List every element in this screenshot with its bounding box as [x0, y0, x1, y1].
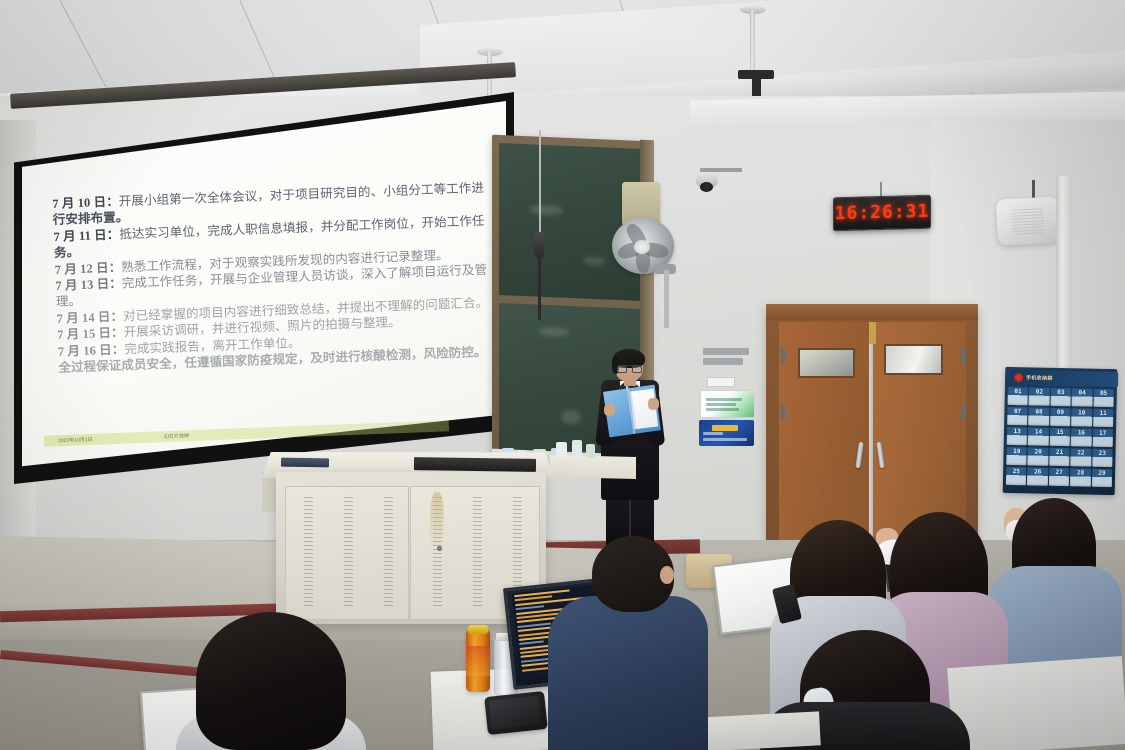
pocket-slot[interactable]: 03 [1050, 388, 1071, 406]
lectern-door-left[interactable] [285, 486, 409, 620]
lectern-bottle-3 [586, 444, 595, 458]
lectern-bottle-2 [572, 440, 582, 458]
lectern-knob[interactable] [437, 546, 442, 551]
classroom-scene: 7 月 10 日：开展小组第一次全体会议，对于项目研究目的、小组分工等工作进 行… [0, 0, 1125, 750]
pocket-slot[interactable]: 09 [1050, 408, 1071, 426]
pocket-slot[interactable]: 17 [1092, 429, 1113, 447]
lectern-monitor[interactable] [281, 458, 329, 468]
pocket-slot[interactable]: 28 [1070, 468, 1091, 486]
pocket-slot[interactable]: 02 [1029, 387, 1050, 405]
door-center-gap [869, 322, 873, 560]
taskbar-left-text: 2022年10月1日 [58, 436, 93, 444]
pocket-slot[interactable]: 10 [1071, 408, 1092, 426]
projector-mount-stem [752, 76, 761, 98]
pocket-chart-header: 手机收纳袋 [1009, 370, 1118, 387]
pocket-slot[interactable]: 29 [1091, 469, 1112, 487]
pocket-chart-title: 手机收纳袋 [1026, 374, 1053, 382]
pocket-slot[interactable]: 01 [1008, 387, 1029, 405]
smartphone-screen[interactable] [489, 695, 542, 729]
slide-content: 7 月 10 日：开展小组第一次全体会议，对于项目研究目的、小组分工等工作进 行… [52, 180, 488, 376]
school-logo-icon [1014, 373, 1023, 382]
pocket-slot[interactable]: 22 [1070, 448, 1091, 466]
lectern-bottle-1 [556, 442, 567, 458]
juice-cap [468, 625, 488, 634]
door-window-left [798, 348, 855, 378]
pocket-slot[interactable]: 25 [1006, 467, 1027, 485]
pocket-slot[interactable]: 07 [1007, 407, 1028, 425]
pocket-slot[interactable]: 16 [1071, 428, 1092, 446]
door-hinge-top-right [962, 348, 966, 364]
pocket-slot[interactable]: 04 [1072, 388, 1093, 406]
student-2-ear [660, 566, 674, 584]
glasses-icon [618, 365, 641, 371]
cord-lower[interactable] [538, 256, 541, 320]
door-sign [703, 348, 753, 370]
presenter-hand-left [604, 404, 615, 416]
pocket-slot[interactable]: 21 [1049, 448, 1070, 466]
camera-lens-icon [700, 182, 713, 192]
door-hinge-bot-left [781, 404, 785, 420]
pocket-slot[interactable]: 23 [1092, 449, 1113, 467]
door-hinge-top-left [781, 348, 785, 364]
lectern-stain [430, 492, 444, 552]
taskbar-right-text: 幻灯片放映 [164, 432, 189, 440]
green-notice-poster [700, 390, 755, 418]
pocket-slot[interactable]: 19 [1006, 447, 1027, 465]
phone-pocket-chart: 手机收纳袋 01 02 03 04 05 07 08 09 10 11 13 1… [1003, 367, 1118, 495]
pocket-slot[interactable]: 26 [1027, 467, 1048, 485]
pocket-slot[interactable]: 08 [1029, 407, 1050, 425]
wall-pipe [1056, 176, 1072, 376]
student-front-left-hair [196, 612, 346, 750]
pocket-slot[interactable]: 15 [1049, 428, 1070, 446]
desk-right [947, 656, 1125, 750]
pocket-slot[interactable]: 11 [1093, 409, 1114, 427]
fan-hub [634, 240, 650, 254]
cord-clip[interactable] [534, 232, 544, 258]
pocket-slot[interactable]: 27 [1049, 468, 1070, 486]
pocket-slot[interactable]: 20 [1028, 447, 1049, 465]
door-lock-icon[interactable] [869, 322, 876, 344]
pocket-slot[interactable]: 13 [1007, 427, 1028, 445]
student-blue-jacket [548, 596, 708, 750]
pocket-slot[interactable]: 05 [1093, 389, 1114, 407]
speaker-grill-icon [1011, 207, 1044, 235]
lectern-side-shelf [550, 455, 636, 479]
presenter-hand-right [648, 398, 659, 410]
small-notice-card [707, 377, 735, 387]
juice-label [466, 646, 490, 676]
door-window-right [884, 344, 943, 375]
blue-poster-tag [712, 425, 738, 431]
door-hinge-bot-right [962, 404, 966, 420]
clock-time-display: 16:26:31 [840, 199, 924, 225]
chalkboard-upper-panel [499, 143, 642, 301]
screen-pull-cord[interactable] [539, 130, 541, 235]
blue-notice-poster [699, 420, 754, 446]
lectern-slot [414, 457, 536, 472]
pocket-slot[interactable]: 14 [1028, 427, 1049, 445]
door-header [766, 304, 978, 320]
drop-pole-right [750, 10, 755, 72]
pocket-chart-grid: 01 02 03 04 05 07 08 09 10 11 13 14 15 1… [1006, 387, 1114, 487]
fan-support-arm [664, 270, 669, 328]
